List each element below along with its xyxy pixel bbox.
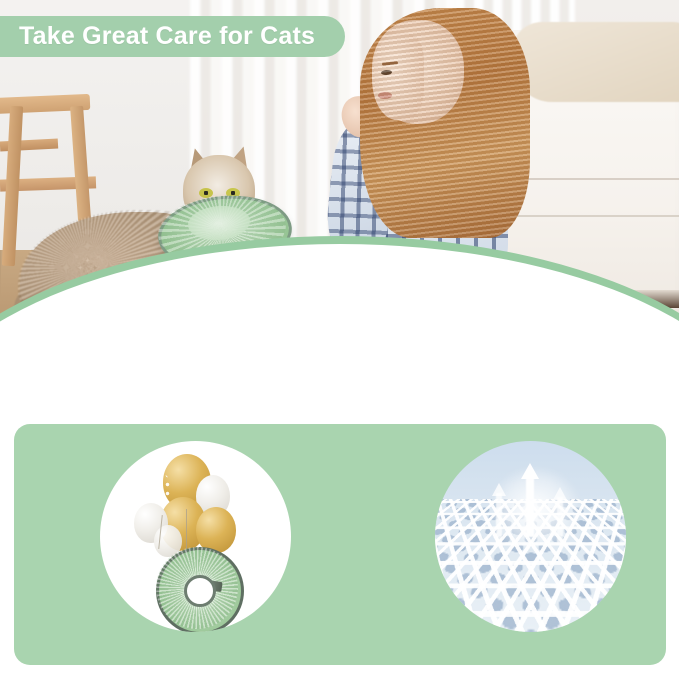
hero-section: Take Great Care for Cats [0, 0, 679, 420]
airflow-arrow-shaft [557, 497, 563, 545]
girl-hair-strands [360, 8, 530, 238]
headline-text: Take Great Care for Cats [19, 22, 315, 51]
airflow-arrow-shaft [496, 493, 502, 545]
headline-banner: Take Great Care for Cats [0, 16, 345, 57]
honeycomb-mesh-icon [435, 441, 626, 632]
feature-item-soft-and-breathable [340, 424, 666, 665]
airflow-arrow-head [553, 487, 567, 500]
product-marketing-image: Take Great Care for Cats [0, 0, 679, 673]
feature-panel: Super lightweight Soft and breathable [14, 424, 666, 665]
beige-cushion [512, 22, 679, 102]
cat-cone-opening [184, 575, 216, 607]
airflow-arrow-shaft [526, 475, 534, 537]
airflow-arrow-head [521, 463, 539, 479]
balloon-string [186, 509, 187, 549]
airflow-arrow-head [492, 483, 506, 496]
balloons-and-cone-icon [100, 441, 291, 632]
hero-photo [0, 0, 679, 412]
mist-cloud [475, 441, 595, 557]
feature-item-super-lightweight [14, 424, 340, 665]
